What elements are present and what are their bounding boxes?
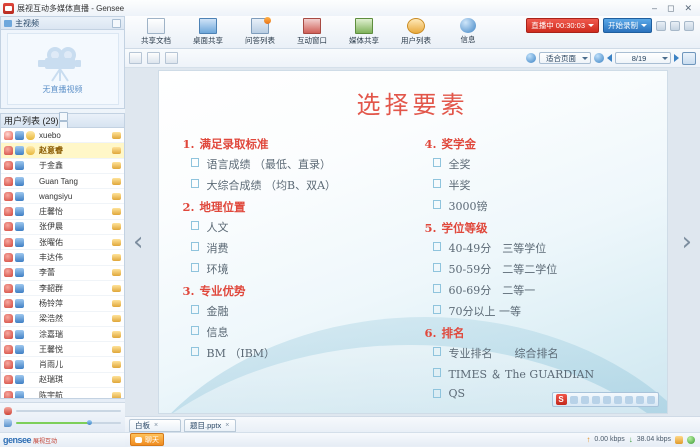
camera-icon[interactable]	[15, 177, 24, 186]
user-list-item[interactable]: 王馨悦	[1, 342, 124, 357]
annotate-icon[interactable]	[165, 52, 178, 64]
gear-icon[interactable]	[684, 21, 694, 31]
user-name: 丰达伟	[37, 252, 112, 263]
slide-prev-arrow[interactable]: ‹	[133, 229, 143, 255]
page-indicator: 8/19	[618, 54, 660, 63]
slide-heading-number: 3.	[183, 284, 195, 298]
slide-heading-text: 排名	[442, 326, 465, 340]
slide-title: 选择要素	[159, 71, 667, 120]
raise-hand-icon[interactable]	[112, 132, 121, 139]
raise-hand-icon[interactable]	[112, 162, 121, 169]
zoom-out-icon[interactable]	[526, 53, 536, 63]
user-name: 杨铃萍	[37, 298, 112, 309]
microphone-icon[interactable]	[4, 192, 13, 201]
upload-speed: 0.00 kbps	[594, 436, 624, 443]
slide-heading-number: 1.	[183, 137, 195, 151]
user-list-item[interactable]: 李韶群	[1, 281, 124, 296]
slide-heading-number: 5.	[425, 221, 437, 235]
document-tab[interactable]: 题目.pptx×	[184, 419, 236, 432]
info-icon	[460, 18, 476, 33]
maximize-button[interactable]: ◻	[667, 4, 674, 13]
microphone-icon[interactable]	[4, 345, 13, 354]
camera-icon[interactable]	[15, 314, 24, 323]
microphone-icon[interactable]	[4, 375, 13, 384]
slide-bullet: 金融	[191, 303, 413, 319]
slide-stage: ‹ › 选择要素 1.满足录取标准语言成绩 （最低、直录）大综合成绩 （均B、双…	[125, 68, 700, 416]
application-window: 展视互动多媒体直播 - Gensee – ◻ ✕ 直播中 00:30:03 开始…	[0, 0, 700, 446]
slide-bullet: 3000镑	[433, 198, 649, 214]
slide-bullet: 信息	[191, 324, 413, 340]
bullet-square-icon	[433, 389, 441, 398]
slide-heading-number: 4.	[425, 137, 437, 151]
microphone-icon[interactable]	[4, 177, 13, 186]
speaker-slider-row[interactable]	[4, 417, 121, 428]
bullet-square-icon	[433, 200, 441, 209]
ime-skin-icon[interactable]	[636, 396, 644, 404]
ime-voice-icon[interactable]	[603, 396, 611, 404]
video-panel-tab[interactable]: 主视频	[15, 18, 39, 29]
collapse-icon[interactable]	[112, 19, 121, 28]
microphone-icon[interactable]	[4, 222, 13, 231]
microphone-icon[interactable]	[4, 253, 13, 262]
camera-icon[interactable]	[15, 253, 24, 262]
grid-icon[interactable]	[670, 21, 680, 31]
slider-knob[interactable]	[87, 420, 92, 425]
bullet-square-icon	[433, 305, 441, 314]
bullet-square-icon	[191, 263, 199, 272]
raise-hand-icon[interactable]	[112, 193, 121, 200]
slide-bullet-text: 半奖	[449, 177, 471, 193]
app-logo-icon	[3, 3, 14, 14]
audio-controls-bar: 我的视频 混音 设置	[0, 402, 125, 432]
brand-name: gensee	[3, 435, 31, 445]
bullet-square-icon	[191, 179, 199, 188]
slide-bullet-text: 消费	[207, 240, 229, 256]
mic-slider-row[interactable]	[4, 405, 121, 416]
ime-toolbar[interactable]: S	[552, 392, 659, 407]
toolbar-button-interactive-window[interactable]: 互动窗口	[286, 16, 338, 46]
video-placeholder: 无直播视频	[7, 33, 119, 105]
window-title: 展视互动多媒体直播 - Gensee	[17, 3, 124, 14]
ime-chinese-mode-icon[interactable]	[570, 396, 578, 404]
avatar	[26, 131, 35, 140]
microphone-icon[interactable]	[4, 161, 13, 170]
slide-bullet: 大综合成绩 （均B、双A）	[191, 177, 413, 193]
user-list-panel: 用户列表 (29) xuebo赵意睿于金鑫Guan Tangwangsiyu庄馨…	[0, 113, 125, 399]
user-name: 涂嘉瑞	[37, 329, 112, 340]
toolbar-button-label: 桌面共享	[193, 35, 223, 46]
slide-bullet-text: 语言成绩 （最低、直录）	[207, 156, 332, 172]
raise-hand-icon[interactable]	[112, 300, 121, 307]
bullet-square-icon	[433, 179, 441, 188]
user-list-item[interactable]: Guan Tang	[1, 174, 124, 189]
document-navigation: 适合页面 8/19	[526, 52, 696, 65]
user-name: 于金鑫	[37, 160, 112, 171]
raise-hand-icon[interactable]	[112, 331, 121, 338]
user-list-title: 用户列表 (29)	[4, 114, 59, 127]
slide-heading-text: 奖学金	[442, 137, 477, 151]
toolbar-button-label: 媒体共享	[349, 35, 379, 46]
user-list-item[interactable]: 肖雨儿	[1, 357, 124, 372]
raise-hand-icon[interactable]	[112, 269, 121, 276]
user-name: 王馨悦	[37, 344, 112, 355]
desktop-share-icon	[199, 18, 217, 34]
toolbar-button-document[interactable]: 共享文档	[130, 16, 182, 46]
document-icon	[147, 18, 165, 34]
no-video-label: 无直播视频	[43, 84, 83, 95]
raise-hand-icon[interactable]	[112, 315, 121, 322]
slide-bullet: BM （IBM）	[191, 345, 413, 361]
slide-bullet: 环境	[191, 261, 413, 277]
camera-icon[interactable]	[15, 161, 24, 170]
chevron-down-icon[interactable]	[582, 57, 588, 60]
slide-bullet-text: 金融	[207, 303, 229, 319]
raise-hand-icon[interactable]	[112, 361, 121, 368]
interactive-window-icon	[303, 18, 321, 34]
microphone-icon[interactable]	[4, 407, 12, 415]
camera-icon[interactable]	[15, 345, 24, 354]
toolbar-button-label: 共享文档	[141, 35, 171, 46]
bullet-square-icon	[191, 347, 199, 356]
microphone-icon[interactable]	[4, 391, 13, 398]
minimize-button[interactable]: –	[652, 4, 657, 13]
download-speed: 38.04 kbps	[637, 436, 671, 443]
user-list-item[interactable]: 李蕾	[1, 266, 124, 281]
raise-hand-icon[interactable]	[112, 376, 121, 383]
video-panel-actions	[112, 19, 121, 28]
camera-icon[interactable]	[15, 299, 24, 308]
bullet-square-icon	[433, 263, 441, 272]
bullet-square-icon	[191, 158, 199, 167]
window-controls: – ◻ ✕	[652, 4, 700, 13]
ime-keyboard-icon[interactable]	[614, 396, 622, 404]
microphone-icon[interactable]	[4, 146, 13, 155]
title-bar: 展视互动多媒体直播 - Gensee – ◻ ✕	[0, 0, 700, 17]
slide-heading: 6.排名	[425, 325, 649, 341]
bullet-square-icon	[433, 158, 441, 167]
fullscreen-button[interactable]	[682, 52, 696, 65]
slide-bullet: TIMES ＆ The GUARDIAN	[433, 366, 649, 382]
close-button[interactable]: ✕	[684, 4, 692, 13]
slide-heading-text: 专业优势	[200, 284, 246, 298]
slide-bullet-text: 60-69分 二等一	[449, 282, 536, 298]
slide-bullet: 半奖	[433, 177, 649, 193]
slide-bullet-text: TIMES ＆ The GUARDIAN	[449, 366, 595, 382]
user-list-item[interactable]: xuebo	[1, 128, 124, 143]
slide-heading-text: 学位等级	[442, 221, 488, 235]
brand-footer: gensee 展视互动	[0, 432, 128, 447]
raise-hand-icon[interactable]	[112, 147, 121, 154]
slide-bullet-text: 专业排名 综合排名	[449, 345, 559, 361]
camera-icon[interactable]	[15, 131, 24, 140]
camera-icon[interactable]	[15, 375, 24, 384]
user-list-item[interactable]: 梁浩然	[1, 312, 124, 327]
qa-list-icon	[251, 18, 269, 34]
bullet-square-icon	[433, 368, 441, 377]
live-status-label: 直播中 00:30:03	[531, 20, 585, 31]
document-toolbar: 适合页面 8/19	[125, 49, 700, 68]
chat-button[interactable]: 聊天	[130, 433, 164, 446]
user-list-item[interactable]: 涂嘉瑞	[1, 327, 124, 342]
slide-bullet: 全奖	[433, 156, 649, 172]
sogou-logo-icon: S	[556, 394, 567, 405]
slide-bullet-text: QS	[449, 387, 466, 400]
user-name: 梁浩然	[37, 313, 112, 324]
user-name: xuebo	[37, 131, 112, 140]
camera-icon[interactable]	[15, 391, 24, 398]
live-status-button[interactable]: 直播中 00:30:03	[526, 18, 599, 33]
video-preview-area[interactable]: 无直播视频	[0, 29, 125, 109]
user-name: 李蕾	[37, 267, 112, 278]
user-list-item[interactable]: 丰达伟	[1, 250, 124, 265]
user-name: 赵意睿	[37, 145, 112, 156]
live-controls: 直播中 00:30:03 开始录制	[526, 18, 694, 33]
next-page-arrow-icon[interactable]	[674, 54, 679, 62]
user-name: 陈宇航	[37, 390, 112, 398]
slide-bullet: 专业排名 综合排名	[433, 345, 649, 361]
slide-heading: 5.学位等级	[425, 220, 649, 236]
slide-bullet-text: 人文	[207, 219, 229, 235]
hand-icon[interactable]	[656, 21, 666, 31]
microphone-icon[interactable]	[4, 360, 13, 369]
upload-document-icon[interactable]	[147, 52, 160, 64]
slide-bullet-text: 3000镑	[449, 198, 488, 214]
slide-bullet: 60-69分 二等一	[433, 282, 649, 298]
user-list-item[interactable]: wangsiyu	[1, 189, 124, 204]
slide-bullet: 50-59分 二等二学位	[433, 261, 649, 277]
camera-icon[interactable]	[15, 207, 24, 216]
zoom-in-icon[interactable]	[594, 53, 604, 63]
camera-icon[interactable]	[15, 330, 24, 339]
slide-heading-number: 6.	[425, 326, 437, 340]
slide-next-arrow[interactable]: ›	[682, 229, 692, 255]
slide-bullet: 人文	[191, 219, 413, 235]
microphone-icon[interactable]	[4, 299, 13, 308]
microphone-icon[interactable]	[4, 131, 13, 140]
raise-hand-icon[interactable]	[112, 223, 121, 230]
slide-bullet-text: 全奖	[449, 156, 471, 172]
media-share-icon	[355, 18, 373, 34]
ime-toolbox-icon[interactable]	[625, 396, 633, 404]
slide-bullet-text: 大综合成绩 （均B、双A）	[207, 177, 337, 193]
microphone-icon[interactable]	[4, 207, 13, 216]
ime-punctuation-icon[interactable]	[581, 396, 589, 404]
start-record-button[interactable]: 开始录制	[603, 18, 652, 33]
slide-bullet-text: 40-49分 三等学位	[449, 240, 547, 256]
zoom-mode-value: 适合页面	[542, 53, 580, 64]
slide-heading: 4.奖学金	[425, 136, 649, 152]
network-stats: ↑ 0.00 kbps ↓ 38.04 kbps	[586, 435, 695, 444]
slide-heading: 2.地理位置	[183, 199, 413, 215]
avatar	[26, 146, 35, 155]
ime-emoji-icon[interactable]	[592, 396, 600, 404]
microphone-icon[interactable]	[4, 314, 13, 323]
slide-columns: 1.满足录取标准语言成绩 （最低、直录）大综合成绩 （均B、双A）2.地理位置人…	[159, 120, 667, 405]
ime-menu-icon[interactable]	[647, 396, 655, 404]
brand-tagline: 展视互动	[33, 436, 57, 445]
slide-bullet-text: 70分以上 一等	[449, 303, 522, 319]
chat-bubble-icon	[135, 437, 142, 443]
video-camera-icon	[35, 44, 91, 82]
user-name: 李韶群	[37, 283, 112, 294]
bullet-square-icon	[191, 242, 199, 251]
user-list-item[interactable]: 张曜佑	[1, 235, 124, 250]
raise-hand-icon[interactable]	[112, 346, 121, 353]
camera-icon[interactable]	[15, 238, 24, 247]
slide-right-column: 4.奖学金全奖半奖3000镑5.学位等级40-49分 三等学位50-59分 二等…	[413, 130, 649, 405]
settings-icon[interactable]	[59, 112, 68, 121]
toolbar-button-label: 互动窗口	[297, 35, 327, 46]
video-panel-header: 主视频	[0, 16, 125, 29]
document-tab-label: 白板	[135, 420, 150, 431]
slide-bullet: 40-49分 三等学位	[433, 240, 649, 256]
chevron-down-icon[interactable]	[662, 57, 668, 60]
user-name: wangsiyu	[37, 192, 112, 201]
speaker-icon[interactable]	[4, 419, 12, 427]
toolbar-button-desktop-share[interactable]: 桌面共享	[182, 16, 234, 46]
user-name: 肖雨儿	[37, 359, 112, 370]
chevron-down-icon[interactable]	[588, 24, 594, 27]
upload-arrow-icon: ↑	[586, 435, 590, 444]
chevron-down-icon[interactable]	[641, 24, 647, 27]
slide-heading-text: 地理位置	[200, 200, 246, 214]
bullet-square-icon	[191, 221, 199, 230]
close-icon[interactable]: ×	[225, 422, 229, 429]
raise-hand-icon[interactable]	[112, 285, 121, 292]
microphone-icon[interactable]	[4, 284, 13, 293]
user-list-item[interactable]: 张伊晨	[1, 220, 124, 235]
prev-page-arrow-icon[interactable]	[607, 54, 612, 62]
bullet-square-icon	[433, 347, 441, 356]
slide-bullet: 语言成绩 （最低、直录）	[191, 156, 413, 172]
user-list-item[interactable]: 于金鑫	[1, 159, 124, 174]
slide-bullet: 70分以上 一等	[433, 303, 649, 319]
document-tab[interactable]: 白板×	[129, 419, 181, 432]
user-name: 张曜佑	[37, 237, 112, 248]
raise-hand-icon[interactable]	[112, 208, 121, 215]
page-select[interactable]: 8/19	[615, 52, 671, 64]
document-tools	[129, 52, 178, 64]
camera-icon[interactable]	[15, 146, 24, 155]
user-name: 赵瑞琪	[37, 374, 112, 385]
camera-icon[interactable]	[15, 284, 24, 293]
user-list-item[interactable]: 陈宇航	[1, 388, 124, 398]
slide-bullet-text: 50-59分 二等二学位	[449, 261, 558, 277]
raise-hand-icon[interactable]	[112, 178, 121, 185]
slide-heading: 3.专业优势	[183, 283, 413, 299]
camera-icon[interactable]	[15, 360, 24, 369]
user-name: 庄馨怡	[37, 206, 112, 217]
camera-icon[interactable]	[15, 268, 24, 277]
close-icon[interactable]: ×	[154, 422, 158, 429]
mic-volume-slider[interactable]	[16, 410, 121, 412]
user-name: 张伊晨	[37, 221, 112, 232]
user-list-item[interactable]: 赵意睿	[1, 143, 124, 158]
raise-hand-icon[interactable]	[112, 254, 121, 261]
toolbar-button-label: 信息	[461, 34, 476, 45]
user-list-header: 用户列表 (29)	[1, 114, 124, 128]
bullet-square-icon	[433, 242, 441, 251]
user-list-icon	[407, 18, 425, 34]
bullet-square-icon	[191, 305, 199, 314]
main-content-area: 共享文档桌面共享问答列表互动窗口媒体共享用户列表信息 适合页面 8/19	[125, 16, 700, 432]
document-tab-label: 题目.pptx	[190, 420, 221, 431]
slide-bullet-text: BM （IBM）	[207, 345, 276, 361]
toolbar-button-media-share[interactable]: 媒体共享	[338, 16, 390, 46]
toolbar-button-info[interactable]: 信息	[442, 16, 494, 46]
user-list-item[interactable]: 赵瑞琪	[1, 373, 124, 388]
slide-left-column: 1.满足录取标准语言成绩 （最低、直录）大综合成绩 （均B、双A）2.地理位置人…	[177, 130, 413, 405]
slide-heading: 1.满足录取标准	[183, 136, 413, 152]
camera-icon[interactable]	[15, 192, 24, 201]
user-list-rows[interactable]: xuebo赵意睿于金鑫Guan Tangwangsiyu庄馨怡张伊晨张曜佑丰达伟…	[1, 128, 124, 398]
toolbar-button-label: 问答列表	[245, 35, 275, 46]
status-bar: 聊天 ↑ 0.00 kbps ↓ 38.04 kbps	[125, 432, 700, 446]
toolbar-button-label: 用户列表	[401, 35, 431, 46]
download-arrow-icon: ↓	[629, 435, 633, 444]
microphone-icon[interactable]	[4, 238, 13, 247]
network-icon[interactable]	[675, 436, 683, 444]
raise-hand-icon[interactable]	[112, 392, 121, 398]
connection-status-icon[interactable]	[687, 436, 695, 444]
slide-bullet-text: 环境	[207, 261, 229, 277]
user-list-item[interactable]: 庄馨怡	[1, 204, 124, 219]
microphone-icon[interactable]	[4, 330, 13, 339]
microphone-icon[interactable]	[4, 268, 13, 277]
slide-bullet: 消费	[191, 240, 413, 256]
user-list-item[interactable]: 杨铃萍	[1, 296, 124, 311]
bullet-square-icon	[433, 284, 441, 293]
start-record-label: 开始录制	[608, 20, 638, 31]
slide-canvas[interactable]: 选择要素 1.满足录取标准语言成绩 （最低、直录）大综合成绩 （均B、双A）2.…	[158, 70, 668, 414]
zoom-mode-select[interactable]: 适合页面	[539, 52, 591, 64]
raise-hand-icon[interactable]	[112, 239, 121, 246]
bullet-square-icon	[191, 326, 199, 335]
user-name: Guan Tang	[37, 177, 112, 186]
toolbar-button-user-list[interactable]: 用户列表	[390, 16, 442, 46]
left-sidebar: 主视频 无直播视频	[0, 16, 125, 402]
slide-bullet-text: 信息	[207, 324, 229, 340]
open-folder-icon[interactable]	[129, 52, 142, 64]
camera-icon	[4, 20, 12, 27]
speaker-volume-slider[interactable]	[16, 422, 121, 424]
slide-heading-text: 满足录取标准	[200, 137, 269, 151]
toolbar-button-qa-list[interactable]: 问答列表	[234, 16, 286, 46]
camera-icon[interactable]	[15, 222, 24, 231]
user-list-actions	[59, 112, 68, 130]
slide-heading-number: 2.	[183, 200, 195, 214]
chat-label: 聊天	[145, 435, 159, 445]
